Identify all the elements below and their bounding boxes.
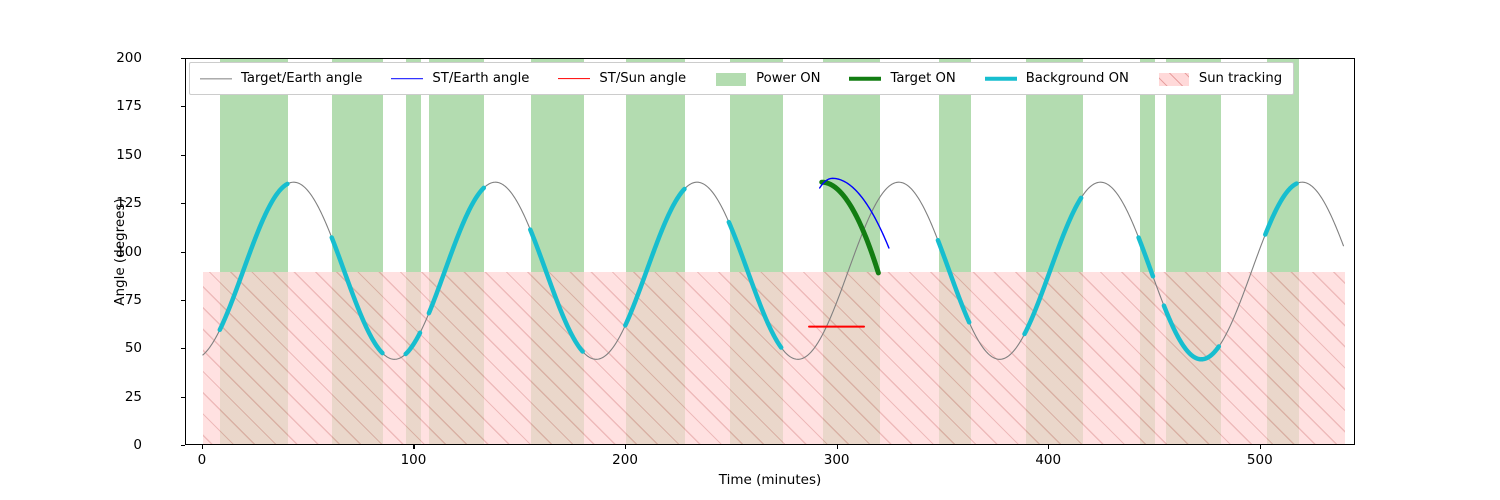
- x-tick-label: 200: [612, 452, 638, 468]
- y-tick-label: 125: [116, 195, 142, 211]
- background-on-segment: [625, 189, 684, 325]
- x-tick-label: 300: [824, 452, 850, 468]
- y-tick-label: 200: [116, 50, 142, 66]
- x-axis-label: Time (minutes): [719, 472, 822, 488]
- x-tick-mark: [413, 445, 414, 449]
- legend-swatch-icon: [1157, 71, 1191, 87]
- legend-label: Sun tracking: [1199, 71, 1282, 86]
- legend-label: Power ON: [756, 71, 820, 86]
- x-tick-label: 0: [198, 452, 207, 468]
- background-on-segment: [1139, 238, 1153, 277]
- legend-label: Target/Earth angle: [241, 71, 362, 86]
- legend-hatch-icon: [1159, 73, 1189, 86]
- background-on-segment: [332, 238, 383, 354]
- legend-item[interactable]: Target/Earth angle: [199, 71, 380, 87]
- legend-line-icon: [985, 76, 1017, 81]
- legend-item[interactable]: Background ON: [984, 71, 1147, 87]
- legend-label: ST/Sun angle: [599, 71, 686, 86]
- chart-legend[interactable]: Target/Earth angleST/Earth angleST/Sun a…: [189, 62, 1294, 95]
- background-on-segment: [429, 188, 484, 313]
- y-tick-label: 150: [116, 147, 142, 163]
- legend-swatch-icon: [390, 71, 424, 87]
- legend-swatch-icon: [557, 71, 591, 87]
- background-on-segment: [938, 240, 969, 322]
- y-tick-mark: [181, 445, 185, 446]
- target-on-curve: [822, 182, 879, 273]
- data-curves: [186, 59, 1354, 444]
- background-on-segment: [1164, 306, 1219, 360]
- legend-item[interactable]: ST/Earth angle: [390, 71, 547, 87]
- y-tick-label: 25: [125, 389, 142, 405]
- x-tick-label: 100: [401, 452, 427, 468]
- background-on-segment: [406, 333, 420, 354]
- legend-label: ST/Earth angle: [432, 71, 529, 86]
- y-tick-label: 50: [125, 340, 142, 356]
- y-tick-label: 75: [125, 292, 142, 308]
- x-tick-mark: [1048, 445, 1049, 449]
- legend-label: Target ON: [890, 71, 955, 86]
- legend-item[interactable]: Sun tracking: [1157, 71, 1284, 87]
- y-tick-label: 100: [116, 244, 142, 260]
- legend-item[interactable]: ST/Sun angle: [557, 71, 704, 87]
- legend-item[interactable]: Target ON: [848, 71, 973, 87]
- background-on-segment: [530, 230, 582, 352]
- y-tick-label: 0: [133, 437, 142, 453]
- legend-swatch-icon: [984, 71, 1018, 87]
- background-on-segment: [729, 222, 781, 347]
- legend-line-icon: [391, 78, 423, 80]
- y-tick-label: 175: [116, 98, 142, 114]
- legend-line-icon: [558, 78, 590, 80]
- background-on-segment: [220, 184, 288, 330]
- legend-label: Background ON: [1026, 71, 1129, 86]
- background-on-segment: [1025, 198, 1082, 334]
- x-tick-label: 500: [1247, 452, 1273, 468]
- x-tick-mark: [625, 445, 626, 449]
- legend-item[interactable]: Power ON: [714, 71, 838, 87]
- legend-line-icon: [200, 78, 232, 79]
- legend-line-icon: [849, 76, 881, 81]
- plot-area: [185, 58, 1355, 445]
- legend-swatch-icon: [848, 71, 882, 87]
- x-tick-mark: [837, 445, 838, 449]
- figure: Angle (degrees) 0255075100125150175200 0…: [0, 0, 1500, 500]
- x-tick-mark: [1260, 445, 1261, 449]
- legend-patch-icon: [716, 73, 746, 86]
- x-tick-label: 400: [1035, 452, 1061, 468]
- legend-swatch-icon: [199, 71, 233, 87]
- legend-swatch-icon: [714, 71, 748, 87]
- x-tick-mark: [202, 445, 203, 449]
- background-on-segment: [1265, 184, 1296, 235]
